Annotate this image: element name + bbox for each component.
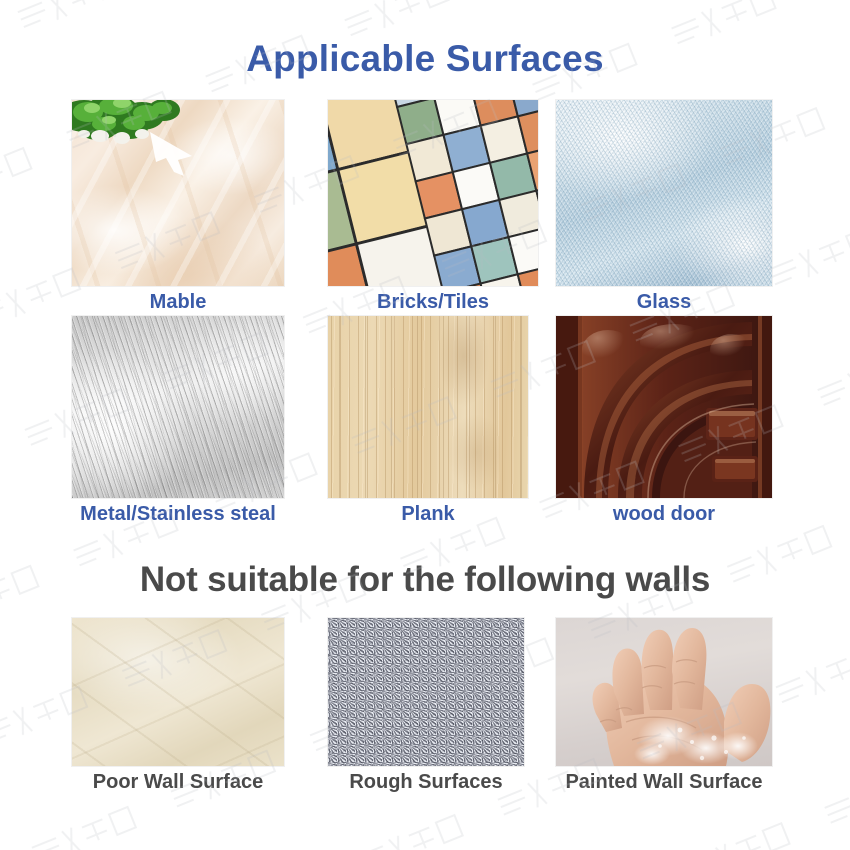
wood-knot-shading — [440, 316, 500, 498]
caption-rough-surfaces: Rough Surfaces — [328, 771, 524, 794]
glass-image — [556, 100, 772, 286]
caption-poor-wall-surface: Poor Wall Surface — [72, 771, 284, 794]
surface-card-mable: Mable — [72, 100, 284, 314]
bricks-tiles-image — [328, 100, 538, 286]
mable-image — [72, 100, 284, 286]
caption-metal: Metal/Stainless steal — [72, 503, 284, 526]
painted-wall-image — [556, 618, 772, 766]
white-arrow-highlight — [148, 122, 212, 178]
mosaic-tile-pattern — [328, 100, 538, 286]
plank-image — [328, 316, 528, 498]
poor-wall-image — [72, 618, 284, 766]
hand-with-paint-residue — [556, 618, 772, 766]
surface-card-plank: Plank — [328, 316, 528, 526]
surface-card-bricks-tiles: Bricks/Tiles — [328, 100, 538, 314]
caption-glass: Glass — [556, 291, 772, 314]
rough-surface-image — [328, 618, 524, 766]
caption-mable: Mable — [72, 291, 284, 314]
caption-plank: Plank — [328, 503, 528, 526]
wood-door-image — [556, 316, 772, 498]
surface-card-rough: Rough Surfaces — [328, 618, 524, 794]
frosted-glass-grain — [556, 100, 772, 286]
page-title-applicable-surfaces: Applicable Surfaces — [0, 38, 850, 80]
brushed-metal-lines — [72, 316, 284, 498]
metal-image — [72, 316, 284, 498]
caption-wood-door: wood door — [556, 503, 772, 526]
page-title-not-suitable: Not suitable for the following walls — [0, 560, 850, 600]
caption-bricks-tiles: Bricks/Tiles — [328, 291, 538, 314]
poor-wall-texture — [72, 618, 284, 766]
stucco-grain-overlay — [328, 618, 524, 766]
caption-painted-wall-surface: Painted Wall Surface — [556, 771, 772, 794]
surface-card-glass: Glass — [556, 100, 772, 314]
surface-card-metal: Metal/Stainless steal — [72, 316, 284, 526]
surface-card-painted-wall: Painted Wall Surface — [556, 618, 772, 794]
surface-card-poor-wall: Poor Wall Surface — [72, 618, 284, 794]
door-panel-carving — [556, 316, 772, 498]
surface-card-wood-door: wood door — [556, 316, 772, 526]
